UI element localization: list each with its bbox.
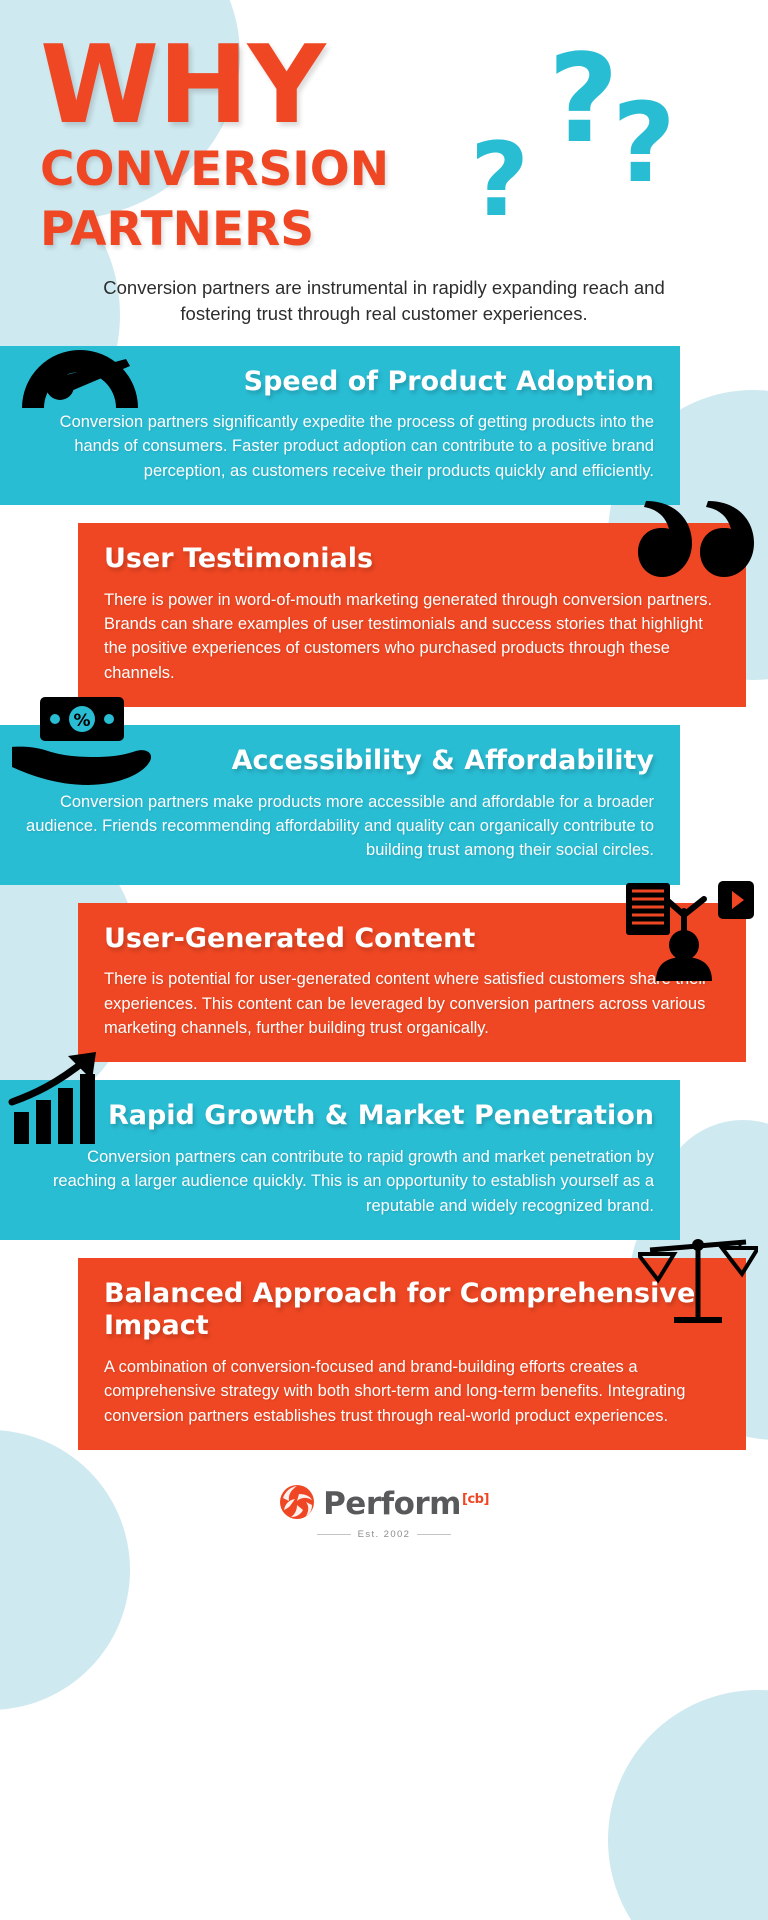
- logo-name: Perform: [323, 1486, 461, 1522]
- card-body: A combination of conversion-focused and …: [104, 1355, 720, 1428]
- growth-chart-icon: [8, 1050, 138, 1151]
- header: ? ? ? WHY CONVERSION PARTNERS Conversion…: [0, 0, 768, 328]
- title-line-partners: PARTNERS: [40, 205, 768, 255]
- card-user-testimonials: User Testimonials There is power in word…: [0, 523, 768, 707]
- intro-paragraph: Conversion partners are instrumental in …: [94, 275, 674, 328]
- logo-established: Est. 2002: [0, 1529, 768, 1540]
- svg-text:%: %: [73, 711, 90, 731]
- speedometer-icon: [8, 316, 158, 417]
- logo-superscript: [cb]: [462, 1492, 489, 1507]
- balance-scale-icon: [638, 1232, 758, 1337]
- content-creator-icon: [622, 877, 758, 986]
- logo-wordmark: Perform[cb]: [323, 1486, 489, 1522]
- card-body: Conversion partners significantly expedi…: [26, 410, 654, 483]
- logo-mark-icon: [279, 1484, 315, 1525]
- card-body: Conversion partners make products more a…: [26, 790, 654, 863]
- card-accessibility-affordability: % Accessibility & Affordability Conversi…: [0, 725, 768, 885]
- card-balanced-approach: Balanced Approach for Comprehensive Impa…: [0, 1258, 768, 1450]
- title-line-why: WHY: [40, 36, 768, 135]
- title-line-conversion: CONVERSION: [40, 145, 768, 195]
- quotation-mark-icon: [638, 497, 758, 588]
- money-in-hand-icon: %: [8, 695, 158, 792]
- perform-cb-logo: Perform[cb]: [279, 1484, 489, 1525]
- footer: Perform[cb] Est. 2002: [0, 1484, 768, 1566]
- infographic-page: ? ? ? WHY CONVERSION PARTNERS Conversion…: [0, 0, 768, 1920]
- card-body: There is power in word-of-mouth marketin…: [104, 588, 720, 686]
- card-body: Conversion partners can contribute to ra…: [26, 1145, 654, 1218]
- background-blob: [608, 1690, 768, 1920]
- card-user-generated-content: User-Generated Content There is potentia…: [0, 903, 768, 1063]
- card-rapid-growth-market-penetration: Rapid Growth & Market Penetration Conver…: [0, 1080, 768, 1240]
- card-title: User Testimonials: [104, 543, 720, 575]
- page-title: WHY CONVERSION PARTNERS: [0, 36, 768, 255]
- card-title: Balanced Approach for Comprehensive Impa…: [104, 1278, 720, 1343]
- card-speed-of-product-adoption: Speed of Product Adoption Conversion par…: [0, 346, 768, 506]
